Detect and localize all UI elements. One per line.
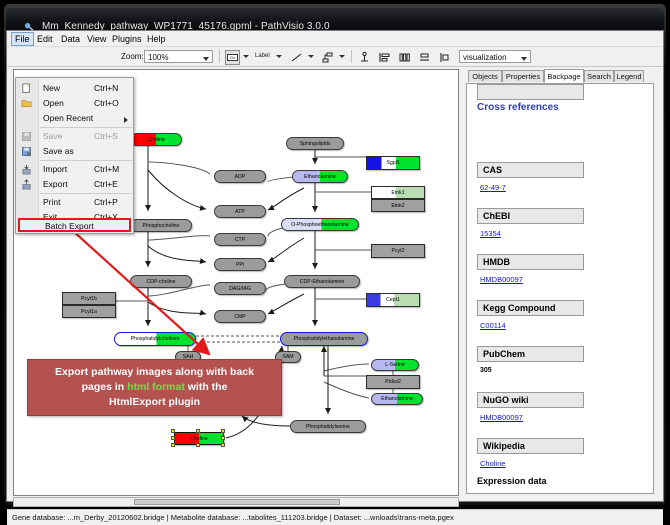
menu-item-batch-export-label: Batch Export: [45, 221, 94, 231]
selection-handle[interactable]: [221, 429, 225, 433]
distribute-icon[interactable]: [397, 50, 412, 65]
annotation-line-2: pages in html format with the: [28, 380, 281, 395]
menu-item-open[interactable]: Open Ctrl+O: [16, 96, 135, 111]
node-choline[interactable]: Choline: [130, 133, 182, 146]
side-panel-tabs: Objects Properties Backpage Search Legen…: [462, 69, 658, 83]
menu-file[interactable]: File: [11, 32, 34, 46]
line-icon[interactable]: [289, 50, 304, 65]
xref-header-chebi: ChEBI: [477, 208, 584, 224]
backpage-content: Cross references CAS 62-49-7 ChEBI 15354…: [466, 83, 654, 494]
datanode-dropdown-icon[interactable]: [243, 55, 249, 58]
node-cdp-ethanolamine[interactable]: CDP-Ethanolamine: [284, 275, 360, 288]
node-atp[interactable]: ATP: [214, 205, 266, 218]
save-as-icon: [21, 146, 32, 157]
menu-item-save-as-label: Save as: [43, 146, 74, 156]
datanode-button[interactable]: Gn: [225, 50, 240, 65]
menu-item-save-as[interactable]: Save as: [16, 144, 135, 159]
selection-handle[interactable]: [221, 436, 225, 440]
hscrollbar-thumb[interactable]: [134, 499, 340, 505]
status-bar: Gene database: ...m_Derby_20120602.bridg…: [7, 509, 663, 525]
anchor-icon[interactable]: [357, 50, 372, 65]
menu-item-save-label: Save: [43, 131, 62, 141]
xref-header-pubchem: PubChem: [477, 346, 584, 362]
xref-value-hmdb[interactable]: HMDB00097: [480, 275, 523, 284]
align-left-icon[interactable]: [377, 50, 392, 65]
menu-item-print-accel: Ctrl+P: [94, 197, 118, 207]
annotation-highlight: html format: [127, 381, 185, 393]
xref-value-nugo[interactable]: HMDB00097: [480, 413, 523, 422]
node-ctp[interactable]: CTP: [214, 233, 266, 246]
menu-item-print-label: Print: [43, 197, 60, 207]
menu-item-export-accel: Ctrl+E: [94, 179, 118, 189]
gene-etnk2[interactable]: Etnk2: [371, 199, 425, 212]
interaction-icon[interactable]: [320, 50, 335, 65]
tab-search[interactable]: Search: [584, 70, 614, 82]
side-panel: Objects Properties Backpage Search Legen…: [462, 69, 658, 496]
node-ethanolamine[interactable]: Ethanolamine: [292, 170, 348, 183]
node-sphingolipids[interactable]: Sphingolipids: [286, 137, 344, 150]
cross-references-title: Cross references: [477, 102, 559, 113]
group-icon[interactable]: [437, 50, 452, 65]
menu-item-open-label: Open: [43, 98, 64, 108]
submenu-arrow-icon: [124, 117, 128, 123]
gene-pcyt1a[interactable]: Pcyt1a: [62, 305, 116, 318]
zoom-combo[interactable]: 100%: [144, 50, 213, 63]
gene-ptdss2[interactable]: Ptdss2: [366, 375, 420, 389]
menu-item-open-recent[interactable]: Open Recent: [16, 111, 135, 126]
canvas-hscrollbar[interactable]: [13, 497, 459, 507]
chevron-down-icon: [521, 57, 527, 61]
node-dag[interactable]: DAG/IAG: [214, 282, 266, 295]
menu-item-save[interactable]: Save Ctrl+S: [16, 129, 135, 144]
xref-header-hmdb: HMDB: [477, 254, 584, 270]
selection-handle[interactable]: [196, 429, 200, 433]
import-icon: [21, 164, 32, 175]
export-icon: [21, 179, 32, 190]
visualization-combo[interactable]: visualization: [459, 50, 531, 63]
menu-item-new[interactable]: New Ctrl+N: [16, 81, 135, 96]
xref-value-wikipedia[interactable]: Choline: [480, 459, 505, 468]
xref-value-cas[interactable]: 62-49-7: [480, 183, 506, 192]
xref-header-kegg: Kegg Compound: [477, 300, 584, 316]
expression-data-title: Expression data: [477, 476, 547, 486]
xref-value-kegg[interactable]: C00114: [480, 321, 506, 330]
gene-pcyt1b[interactable]: Pcyt1b: [62, 292, 116, 305]
xref-value-pubchem: 305: [480, 367, 492, 374]
annotation-line2-a: pages in: [82, 381, 128, 393]
menu-bar: File Edit Data View Plugins Help: [7, 31, 663, 47]
xref-header-cas: CAS: [477, 162, 584, 178]
tab-objects[interactable]: Objects: [468, 70, 502, 82]
node-phosphatidylcholines[interactable]: Phosphatidylcholines: [114, 332, 196, 346]
menu-item-save-accel: Ctrl+S: [94, 131, 118, 141]
annotation-line2-b: with the: [185, 381, 228, 393]
annotation-line-3: HtmlExport plugin: [28, 395, 281, 410]
application-body: File Edit Data View Plugins Help Zoom: 1…: [6, 30, 664, 502]
zoom-value: 100%: [148, 53, 168, 62]
menu-edit[interactable]: Edit: [33, 33, 57, 45]
node-ppi[interactable]: PPi: [214, 258, 266, 271]
menu-item-import-accel: Ctrl+M: [94, 164, 119, 174]
menu-item-import-label: Import: [43, 164, 67, 174]
file-menu-dropdown[interactable]: New Ctrl+N Open Ctrl+O Open Recent: [15, 77, 134, 234]
selection-handle[interactable]: [171, 429, 175, 433]
node-l-serine[interactable]: L-Serine: [371, 359, 419, 371]
node-adp[interactable]: ADP: [214, 170, 266, 183]
node-cmp[interactable]: CMP: [214, 310, 266, 323]
xref-header-wikipedia: Wikipedia: [477, 438, 584, 454]
save-disk-icon: [21, 131, 32, 142]
interaction-dropdown-icon[interactable]: [339, 55, 345, 58]
tab-properties[interactable]: Properties: [502, 70, 544, 82]
open-folder-icon: [21, 98, 32, 109]
menu-data[interactable]: Data: [57, 33, 84, 45]
window-titlebar[interactable]: Mm_Kennedy_pathway_WP1771_45176.gpml - P…: [6, 8, 664, 30]
zoom-label: Zoom:: [121, 52, 144, 61]
menu-item-new-accel: Ctrl+N: [94, 83, 118, 93]
node-ethanolamine-2[interactable]: Ethanolamine: [371, 393, 423, 405]
screenshot-frame: Mm_Kennedy_pathway_WP1771_45176.gpml - P…: [0, 0, 670, 509]
toolbar: Zoom: 100% Gn Label: [7, 47, 663, 67]
menu-plugins[interactable]: Plugins: [108, 33, 146, 45]
selection-handle[interactable]: [221, 443, 225, 447]
menu-item-open-accel: Ctrl+O: [94, 98, 119, 108]
selection-handle[interactable]: [171, 436, 175, 440]
menu-item-print[interactable]: Print Ctrl+P: [16, 195, 135, 210]
menu-item-batch-export[interactable]: Batch Export: [18, 218, 131, 232]
node-cdp-choline[interactable]: CDP-choline: [130, 275, 192, 288]
annotation-line-1: Export pathway images along with back: [28, 365, 281, 380]
annotation-callout: Export pathway images along with back pa…: [27, 359, 282, 416]
menu-item-open-recent-label: Open Recent: [43, 113, 93, 123]
status-text: Gene database: ...m_Derby_20120602.bridg…: [12, 513, 454, 522]
label-dropdown-icon[interactable]: [276, 55, 282, 58]
xref-header-nugo: NuGO wiki: [477, 392, 584, 408]
tab-legend[interactable]: Legend: [614, 70, 644, 82]
line-dropdown-icon[interactable]: [308, 55, 314, 58]
gene-etnk1[interactable]: Etnk1: [371, 186, 425, 199]
menu-item-export[interactable]: Export Ctrl+E: [16, 177, 135, 192]
selection-handle[interactable]: [171, 443, 175, 447]
gene-pcyt2[interactable]: Pcyt2: [371, 244, 425, 258]
menu-item-export-label: Export: [43, 179, 68, 189]
xref-value-chebi[interactable]: 15354: [480, 229, 501, 238]
new-file-icon: [21, 83, 32, 94]
gene-cept1[interactable]: Cept1: [366, 293, 420, 307]
tab-backpage[interactable]: Backpage: [544, 69, 584, 83]
chevron-down-icon: [203, 57, 209, 61]
node-o-phosphoethanolamine[interactable]: O-Phosphoethanolamine: [281, 218, 359, 231]
visualization-value: visualization: [463, 53, 507, 62]
gene-sgpl1[interactable]: Sgpl1: [366, 156, 420, 170]
selection-handle[interactable]: [196, 443, 200, 447]
menu-item-new-label: New: [43, 83, 60, 93]
menu-help[interactable]: Help: [143, 33, 170, 45]
menu-item-import[interactable]: Import Ctrl+M: [16, 162, 135, 177]
label-button-text[interactable]: Label: [255, 53, 270, 59]
stack-icon[interactable]: [417, 50, 432, 65]
node-phosphatidylethanolamine[interactable]: Phosphatidylethanolamine: [280, 332, 368, 346]
node-phosphocholine[interactable]: Phosphocholine: [130, 219, 192, 232]
menu-view[interactable]: View: [83, 33, 110, 45]
node-phosphatidylserine[interactable]: Phosphatidylserine: [290, 420, 366, 433]
